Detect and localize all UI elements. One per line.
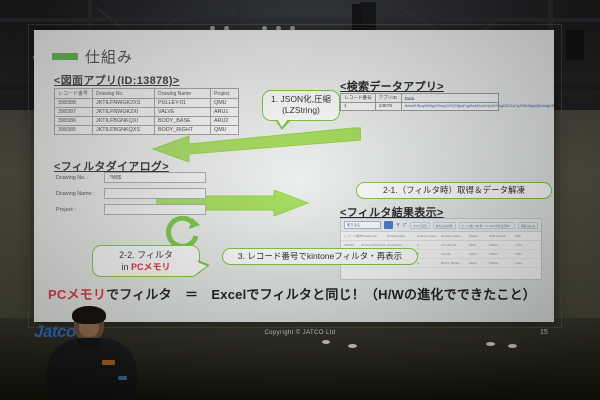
table-row: 1 13878 NobwRJNwyM0Mg/G0xwyCtXQ7I8pqFxgM… (341, 103, 499, 111)
kintone-cell: 2.4M (515, 261, 537, 265)
filter-field-row: Drawing Name : (56, 188, 206, 199)
punchline-mid2: でフィルタと同じ！（H/Wの進化でできたこと） (246, 287, 536, 302)
kintone-cell: 0.8M (515, 252, 537, 256)
kintone-header-cell: Project (469, 234, 489, 238)
filter-input-drawing-name[interactable] (104, 188, 206, 199)
sort-icon[interactable] (403, 222, 407, 228)
table-header-cell: Data (401, 94, 498, 103)
projection-screen: 仕組み <図面アプリ(ID:13878)> レコード番号 Drawing No.… (34, 30, 554, 322)
table-cell-project: QMU (211, 99, 239, 108)
kintone-cell: ARU2 (469, 261, 489, 265)
section-heading-search-data-app: <検索データアプリ> (340, 78, 444, 94)
table-header-cell: Project (211, 89, 239, 99)
callout-step-3-text: 3. レコード番号でkintoneフィルタ・再表示 (238, 251, 402, 261)
table-header-row: レコード番号 Drawing No. Drawing Name Project (55, 89, 239, 99)
kintone-cell: JKTILFNWGK2XS (361, 243, 387, 247)
rigging-box (566, 30, 584, 60)
stage-light (508, 344, 517, 348)
stage-light (348, 344, 357, 348)
table-header-row: レコード番号 アプリID Data (341, 94, 499, 103)
kintone-cell: PULLEY-01 (441, 243, 469, 247)
callout-step-3: 3. レコード番号でkintoneフィルタ・再表示 (222, 248, 418, 265)
kintone-cell: 1.2M (515, 243, 537, 247)
table-header-cell: レコード番号 (55, 89, 93, 99)
table-cell-drawing-no: JKTILFNWGK2XS (93, 99, 155, 108)
callout-step-2-2-prefix: in (121, 262, 131, 272)
kintone-header-cell: Drawing No. (361, 234, 387, 238)
table-cell-project: ARU1 (211, 108, 239, 117)
kintone-cell: B (417, 252, 441, 256)
callout-tail (198, 260, 210, 274)
presenter-hair (72, 306, 106, 324)
kintone-pill-show-all[interactable]: すべて表示 (410, 222, 430, 229)
table-row: 398386 JKTILFBGNKQXI BODY_BASE ARU2 (55, 117, 239, 126)
presenter-badge-secondary (118, 376, 127, 380)
arrow-data-to-pc (149, 126, 361, 162)
table-header-cell: Drawing No. (93, 89, 155, 99)
kintone-cell: A (417, 243, 441, 247)
table-cell-drawing-no: JKTILFBGNKQXS (93, 126, 155, 135)
kintone-cell: A (417, 261, 441, 265)
kintone-header-cell: Change Level (417, 234, 441, 238)
kintone-table-header: レコード番号 Drawing No. Drawing Date Change L… (341, 232, 541, 241)
table-cell-record-no: 398387 (55, 108, 93, 117)
filter-input-project[interactable] (104, 204, 206, 215)
kintone-header-cell: Drawing Date (387, 234, 417, 238)
filter-field-row: Project : (56, 204, 206, 215)
kintone-cell: QMU (469, 243, 489, 247)
callout-step-2-2-line1: 2-2. フィルタ (98, 249, 194, 261)
punchline-mid1: でフィルタ ＝ (106, 287, 211, 302)
kintone-cell: V5R21 (489, 252, 515, 256)
callout-step-2-2-highlight: PCメモリ (131, 262, 171, 272)
callout-step-2-2: 2-2. フィルタ in PCメモリ (92, 245, 200, 277)
filter-input-drawing-no[interactable]: .*M6$ (104, 172, 206, 183)
kintone-cell: BODY_BASE (441, 261, 469, 265)
filter-funnel-icon[interactable] (396, 222, 400, 228)
kintone-search-button[interactable] (384, 221, 393, 229)
table-header-cell: Drawing Name (155, 89, 211, 99)
kintone-header-cell: レコード番号 (344, 234, 361, 238)
table-cell-drawing-no: JKTILFNWGK2XI (93, 108, 155, 117)
stage-light (486, 342, 495, 346)
filter-label-drawing-name: Drawing Name : (56, 191, 104, 197)
stage-light (322, 340, 330, 344)
kintone-pill-filter-condition[interactable]: 絞り込み条件 (433, 222, 456, 229)
presenter-collar (77, 338, 101, 350)
callout-step-2-1-text: 2-1.（フィルタ時）取得＆データ解凍 (383, 185, 525, 195)
kintone-cell: 2019/04/02 (387, 243, 417, 247)
kintone-cell: V5R21 (489, 243, 515, 247)
page-number: 15 (540, 329, 548, 336)
kintone-cell: VALVE (441, 252, 469, 256)
table-cell-record-no: 1 (341, 103, 376, 111)
filter-field-row: Drawing No. : .*M6$ (56, 172, 206, 183)
kintone-header-cell: CAD Version (489, 234, 515, 238)
table-cell-data: NobwRJNwyM0Mg/G0xwyCtXQ7I8pqFxgMw64AcGcS… (401, 103, 498, 111)
kintone-pill-hit-count: ヒット数: 768 件（1～100 件を表示中） (459, 222, 515, 229)
callout-step-2-1: 2-1.（フィルタ時）取得＆データ解凍 (356, 182, 552, 199)
table-cell-record-no: 398388 (55, 99, 93, 108)
kintone-search-input[interactable]: 絞り込む (344, 221, 381, 229)
search-data-app-table: レコード番号 アプリID Data 1 13878 NobwRJNwyM0Mg/… (340, 93, 499, 111)
table-header-cell: アプリID (375, 94, 401, 103)
table-cell-drawing-name: PULLEY-01 (155, 99, 211, 108)
kintone-pill-reload[interactable]: 再読み込み (518, 222, 538, 229)
table-cell-project: ARU2 (211, 117, 239, 126)
presenter-badge (102, 360, 115, 365)
callout-step-2-2-line2: in PCメモリ (98, 261, 194, 273)
table-row: 398387 JKTILFNWGK2XI VALVE ARU1 (55, 108, 239, 117)
slide-title-row: 仕組み (52, 46, 133, 67)
punchline-red: PCメモリ (48, 287, 106, 302)
section-heading-drawing-app: <図面アプリ(ID:13878)> (54, 72, 180, 88)
punchline: PCメモリでフィルタ ＝ Excelでフィルタと同じ！（H/Wの進化でできたこと… (48, 284, 540, 303)
presenter-person (44, 308, 140, 400)
presentation-slide: 仕組み <図面アプリ(ID:13878)> レコード番号 Drawing No.… (34, 30, 554, 322)
filter-dialog: Drawing No. : .*M6$ Drawing Name : Proje… (56, 172, 206, 220)
kintone-header-cell: Drawing Name (441, 234, 469, 238)
table-cell-drawing-name: BODY_BASE (155, 117, 211, 126)
table-header-cell: レコード番号 (341, 94, 376, 103)
table-cell-app-id: 13878 (375, 103, 401, 111)
callout-step-1: 1. JSON化,圧縮(LZString) (262, 90, 340, 121)
kintone-cell: V5R20 (489, 261, 515, 265)
punchline-excel: Excel (211, 287, 246, 302)
title-accent-bar (52, 53, 78, 60)
table-row: 398388 JKTILFNWGK2XS PULLEY-01 QMU (55, 99, 239, 108)
table-cell-record-no: 398385 (55, 126, 93, 135)
compressed-data-blob: NobwRJNwyM0Mg/G0xwyCtXQ7I8pqFxgMw64AcGcS… (405, 104, 495, 109)
table-cell-drawing-name: VALVE (155, 108, 211, 117)
table-cell-drawing-no: JKTILFBGNKQXI (93, 117, 155, 126)
table-cell-record-no: 398386 (55, 117, 93, 126)
kintone-toolbar: 絞り込む すべて表示 絞り込み条件 ヒット数: 768 件（1～100 件を表示… (341, 219, 541, 232)
kintone-cell: 398388 (344, 243, 361, 247)
kintone-cell: ARU1 (469, 252, 489, 256)
callout-step-1-text: 1. JSON化,圧縮(LZString) (271, 94, 331, 115)
filter-label-drawing-no: Drawing No. : (56, 175, 104, 181)
kintone-header-cell: Size (515, 234, 537, 238)
page-title: 仕組み (85, 46, 133, 67)
filter-label-project: Project : (56, 207, 104, 213)
